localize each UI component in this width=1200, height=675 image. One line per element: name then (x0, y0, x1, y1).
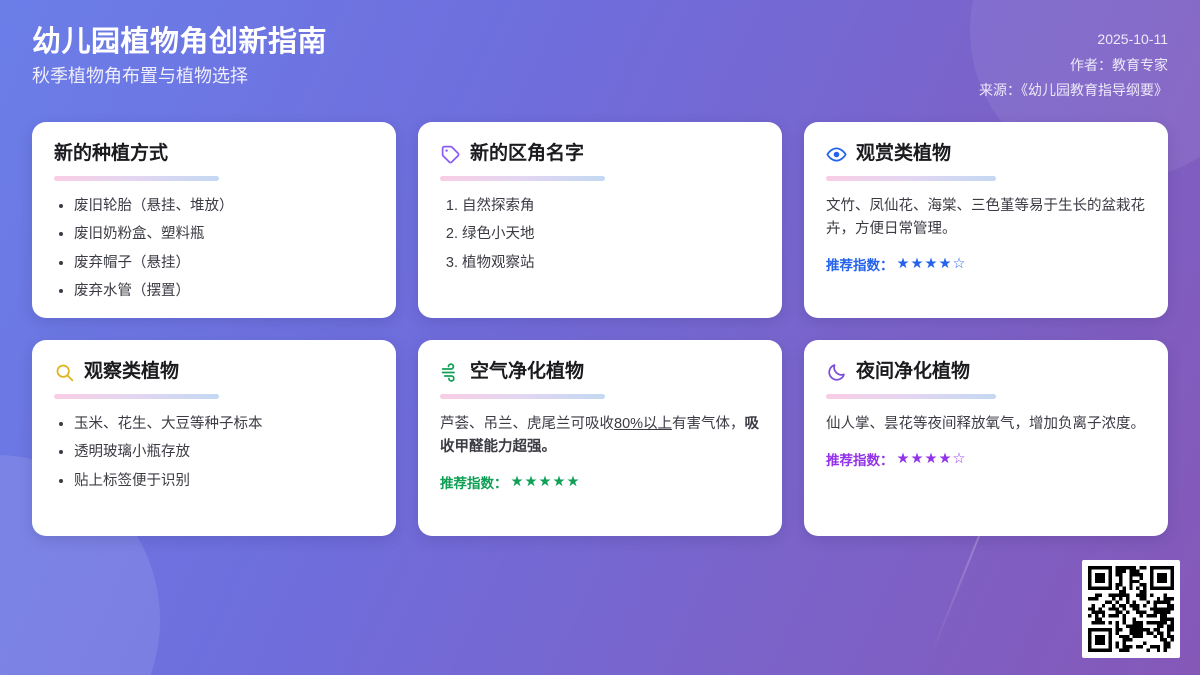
list-item: 植物观察站 (462, 252, 760, 274)
page-header: 幼儿园植物角创新指南 秋季植物角布置与植物选择 2025-10-11 作者：教育… (0, 0, 1200, 118)
list-item: 玉米、花生、大豆等种子标本 (74, 413, 374, 435)
card-title: 观赏类植物 (856, 144, 951, 165)
tag-icon (440, 144, 461, 165)
rating-stars: ★★★★☆ (897, 451, 967, 467)
card-header: 观察类植物 (54, 362, 374, 383)
desc-suffix: 有害气体， (672, 416, 745, 432)
desc-underline: 80%以上 (614, 416, 672, 432)
rating-stars: ★★★★★ (511, 474, 581, 490)
rating-row: 推荐指数： ★★★★☆ (826, 254, 1146, 274)
page-title: 幼儿园植物角创新指南 (32, 26, 327, 59)
eye-icon (826, 144, 847, 165)
list-item: 废旧奶粉盒、塑料瓶 (74, 223, 374, 245)
list-item: 透明玻璃小瓶存放 (74, 441, 374, 463)
rating-stars: ★★★★☆ (897, 256, 967, 272)
meta-source: 来源：《幼儿园教育指导纲要》 (979, 82, 1168, 100)
card-underline (826, 176, 996, 181)
list-item: 废弃帽子（悬挂） (74, 252, 374, 274)
page-subtitle: 秋季植物角布置与植物选择 (32, 66, 327, 88)
card-bullet-list: 废旧轮胎（悬挂、堆放） 废旧奶粉盒、塑料瓶 废弃帽子（悬挂） 废弃水管（摆置） (54, 195, 374, 303)
rating-label: 推荐指数： (826, 449, 894, 469)
search-icon (54, 362, 75, 383)
card-header: 夜间净化植物 (826, 362, 1146, 383)
card-title: 观察类植物 (84, 362, 179, 383)
rating-label: 推荐指数： (826, 254, 894, 274)
card-title: 新的区角名字 (470, 144, 584, 165)
rating-label: 推荐指数： (440, 472, 508, 492)
card-ornamental-plants[interactable]: 观赏类植物 文竹、凤仙花、海棠、三色堇等易于生长的盆栽花卉，方便日常管理。 推荐… (804, 122, 1168, 318)
card-bullet-list: 玉米、花生、大豆等种子标本 透明玻璃小瓶存放 贴上标签便于识别 (54, 413, 374, 492)
card-underline (54, 176, 219, 181)
card-header: 空气净化植物 (440, 362, 760, 383)
list-item: 废旧轮胎（悬挂、堆放） (74, 195, 374, 217)
card-title: 夜间净化植物 (856, 362, 970, 383)
header-title-block: 幼儿园植物角创新指南 秋季植物角布置与植物选择 (32, 26, 327, 88)
card-grid: 新的种植方式 废旧轮胎（悬挂、堆放） 废旧奶粉盒、塑料瓶 废弃帽子（悬挂） 废弃… (32, 122, 1168, 536)
list-item: 绿色小天地 (462, 223, 760, 245)
card-air-purifying-plants[interactable]: 空气净化植物 芦荟、吊兰、虎尾兰可吸收80%以上有害气体，吸收甲醛能力超强。 推… (418, 340, 782, 536)
wind-icon (440, 362, 461, 383)
card-title: 空气净化植物 (470, 362, 584, 383)
card-header: 观赏类植物 (826, 144, 1146, 165)
header-meta-block: 2025-10-11 作者：教育专家 来源：《幼儿园教育指导纲要》 (979, 26, 1168, 100)
card-description: 文竹、凤仙花、海棠、三色堇等易于生长的盆栽花卉，方便日常管理。 (826, 195, 1146, 241)
desc-text: 仙人掌、昙花等夜间释放氧气，增加负离子浓度。 (826, 416, 1145, 432)
list-item: 自然探索角 (462, 195, 760, 217)
meta-date: 2025-10-11 (1097, 31, 1168, 49)
card-underline (54, 394, 219, 399)
meta-author: 作者：教育专家 (1070, 57, 1168, 75)
card-zone-names[interactable]: 新的区角名字 自然探索角 绿色小天地 植物观察站 (418, 122, 782, 318)
card-numbered-list: 自然探索角 绿色小天地 植物观察站 (440, 195, 760, 274)
rating-row: 推荐指数： ★★★★☆ (826, 449, 1146, 469)
moon-icon (826, 362, 847, 383)
card-underline (826, 394, 996, 399)
card-night-purifying-plants[interactable]: 夜间净化植物 仙人掌、昙花等夜间释放氧气，增加负离子浓度。 推荐指数： ★★★★… (804, 340, 1168, 536)
card-underline (440, 394, 605, 399)
rating-row: 推荐指数： ★★★★★ (440, 472, 760, 492)
card-header: 新的种植方式 (54, 144, 374, 165)
decorative-diagonal-line (930, 516, 988, 656)
card-observation-plants[interactable]: 观察类植物 玉米、花生、大豆等种子标本 透明玻璃小瓶存放 贴上标签便于识别 (32, 340, 396, 536)
card-header: 新的区角名字 (440, 144, 760, 165)
card-title: 新的种植方式 (54, 144, 168, 165)
card-description: 仙人掌、昙花等夜间释放氧气，增加负离子浓度。 (826, 413, 1146, 436)
card-underline (440, 176, 605, 181)
qr-code[interactable] (1082, 560, 1180, 658)
list-item: 废弃水管（摆置） (74, 280, 374, 302)
card-description: 芦荟、吊兰、虎尾兰可吸收80%以上有害气体，吸收甲醛能力超强。 (440, 413, 760, 459)
qr-code-image (1088, 566, 1174, 652)
list-item: 贴上标签便于识别 (74, 470, 374, 492)
card-planting-methods[interactable]: 新的种植方式 废旧轮胎（悬挂、堆放） 废旧奶粉盒、塑料瓶 废弃帽子（悬挂） 废弃… (32, 122, 396, 318)
desc-text: 文竹、凤仙花、海棠、三色堇等易于生长的盆栽花卉，方便日常管理。 (826, 198, 1145, 237)
desc-prefix: 芦荟、吊兰、虎尾兰可吸收 (440, 416, 614, 432)
